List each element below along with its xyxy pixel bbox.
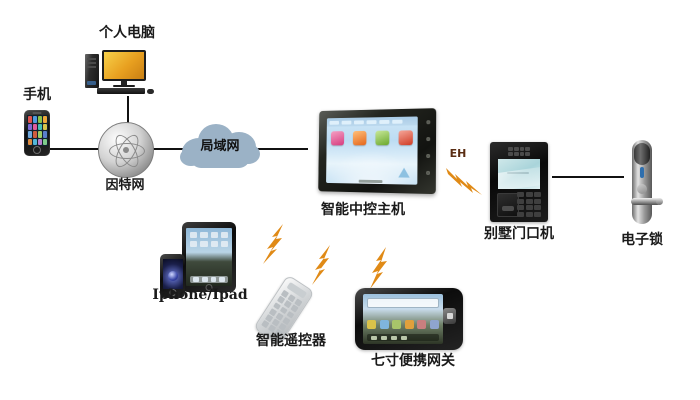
ipad-dock [190,276,228,283]
lock-indicator-led [640,167,644,178]
door-station-icon [490,142,548,222]
host-status-bar [327,116,418,126]
phone-earpiece [33,112,42,114]
ipad-screen [186,228,232,286]
phone-home-button [33,146,41,154]
bolt-host-to-ipad-icon [261,222,295,270]
door-camera-icon [508,147,530,156]
label-pc: 个人电脑 [77,26,177,41]
gateway-search-bar[interactable] [367,298,439,308]
door-screen [498,159,540,189]
network-topology-diagram: 手机 个人电脑 因特网 局域网 [0,0,700,400]
label-iphone-ipad: Iphone/Ipad [145,288,255,303]
host-side-buttons[interactable] [426,120,430,175]
gateway-screen [363,294,443,344]
gateway-app-icons [367,320,439,329]
remote-buttons[interactable] [261,290,302,337]
gateway-touchpad[interactable] [443,308,456,324]
smart-lock-icon [625,140,659,224]
label-lan: 局域网 [178,135,262,154]
label-phone: 手机 [4,88,70,103]
internet-globe-icon [98,122,154,178]
pc-monitor-icon [102,50,146,81]
lock-display [634,143,650,165]
pc-monitor-base [113,85,135,87]
card-reader-icon[interactable] [497,193,519,217]
lock-keypad-icon [637,184,647,194]
link-phone-internet [47,148,99,150]
lan-cloud-icon: 局域网 [178,120,262,170]
iphone-screen [163,259,183,289]
smartphone-icon [24,110,50,156]
label-gateway: 七寸便携网关 [358,354,468,369]
label-internet: 因特网 [92,179,158,193]
bolt-host-to-remote-icon [310,243,340,289]
label-eh: EH [443,148,473,160]
bolt-host-to-door-icon [444,162,486,200]
ipad-icon [182,222,236,292]
ipad-app-icons [190,232,228,247]
label-door-machine: 别墅门口机 [479,227,559,242]
gateway-dock [367,334,439,341]
label-lock: 电子锁 [612,233,672,248]
control-panel-icon [318,108,436,194]
android-gateway-icon [355,288,463,350]
bolt-host-to-gateway-icon [368,245,398,293]
lock-handle[interactable] [631,198,661,205]
host-screen [326,116,418,184]
pc-tower-icon [85,54,99,88]
label-host: 智能中控主机 [308,203,418,218]
host-app-icons [331,130,413,145]
host-play-triangle [398,168,409,178]
phone-screen [27,115,48,146]
pc-mouse-icon [147,89,154,94]
gateway-speaker [365,289,379,292]
label-remote: 智能遥控器 [243,334,339,349]
host-brand-mark [359,180,383,183]
door-keypad[interactable] [517,192,541,217]
link-door-lock [552,176,624,178]
pc-keyboard-icon [97,88,145,94]
